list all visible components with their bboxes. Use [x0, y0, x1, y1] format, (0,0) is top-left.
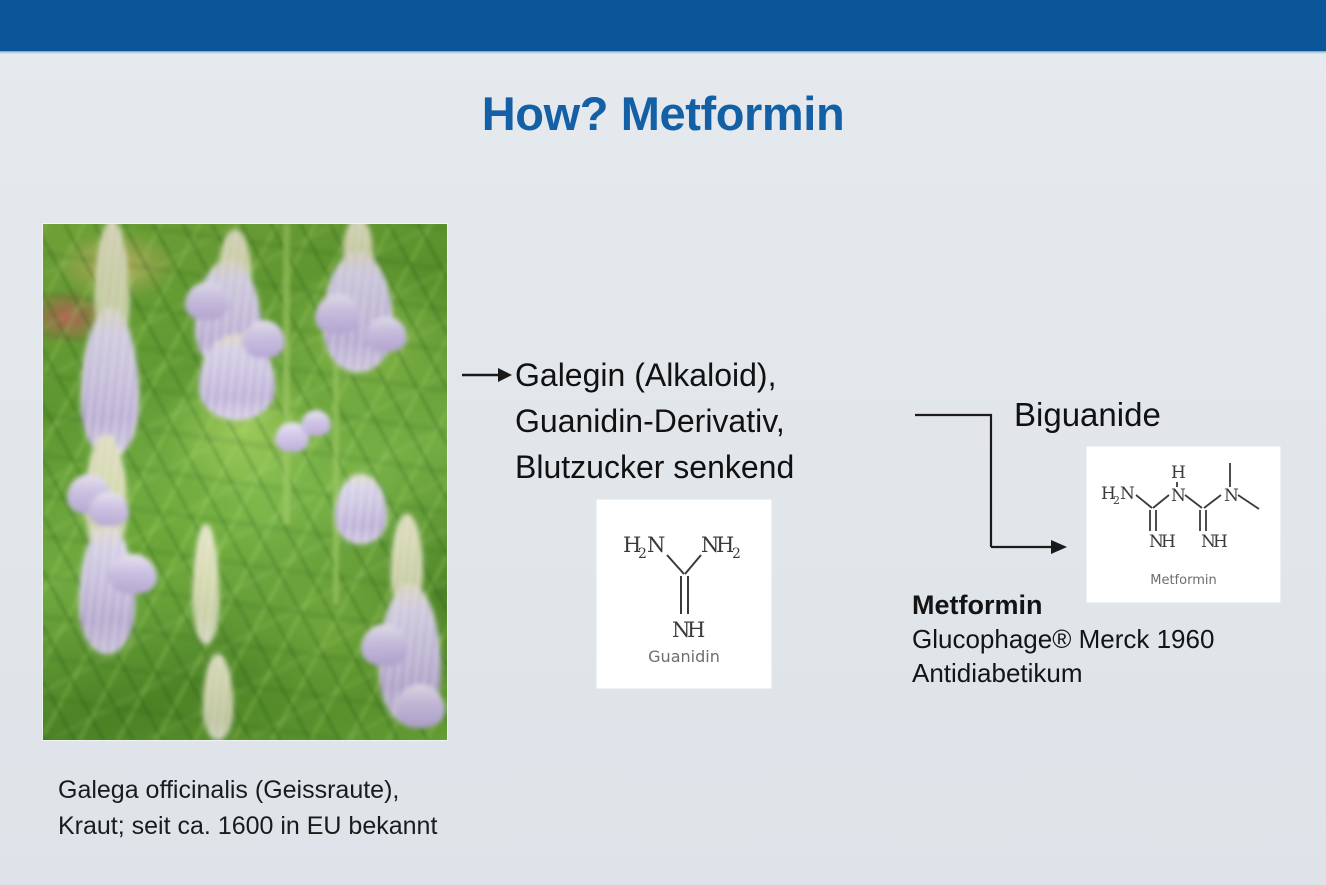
- galegin-description: Galegin (Alkaloid), Guanidin-Derivativ, …: [515, 352, 794, 490]
- slide-canvas: How? Metformin: [0, 0, 1326, 885]
- svg-text:N: N: [1171, 486, 1186, 506]
- arrow-right-icon: [462, 364, 512, 386]
- metformin-class: Antidiabetikum: [912, 656, 1214, 690]
- photo-caption: Galega officinalis (Geissraute), Kraut; …: [58, 772, 437, 844]
- galega-officinalis-photo: [43, 224, 447, 740]
- svg-text:N: N: [647, 533, 665, 557]
- metformin-structure-label: Metformin: [1087, 573, 1280, 588]
- page-title: How? Metformin: [0, 86, 1326, 141]
- header-bar: [0, 0, 1326, 51]
- guanidin-structure-icon: H 2 N N H 2 N H: [597, 504, 771, 654]
- svg-text:2: 2: [1113, 494, 1120, 507]
- metformin-info: Metformin Glucophage® Merck 1960 Antidia…: [912, 588, 1214, 690]
- metformin-name: Metformin: [912, 588, 1214, 622]
- svg-text:2: 2: [732, 546, 741, 562]
- svg-text:N: N: [1224, 486, 1239, 506]
- svg-text:H: H: [687, 618, 705, 642]
- svg-text:N: N: [1120, 484, 1135, 504]
- metformin-structure-icon: H 2 N H N N N H N H: [1087, 451, 1280, 573]
- metformin-brand: Glucophage® Merck 1960: [912, 622, 1214, 656]
- guanidin-label: Guanidin: [597, 647, 771, 666]
- photo-blur-overlay: [43, 224, 447, 740]
- header-bar-edge: [0, 51, 1326, 54]
- metformin-structure-box: H 2 N H N N N H N H: [1087, 447, 1280, 602]
- svg-text:H: H: [1171, 463, 1186, 483]
- svg-text:H: H: [1161, 532, 1176, 552]
- guanidin-structure-box: H 2 N N H 2 N H Guanidin: [597, 500, 771, 688]
- svg-text:H: H: [1213, 532, 1228, 552]
- biguanide-label: Biguanide: [1014, 396, 1161, 434]
- svg-text:2: 2: [638, 546, 647, 562]
